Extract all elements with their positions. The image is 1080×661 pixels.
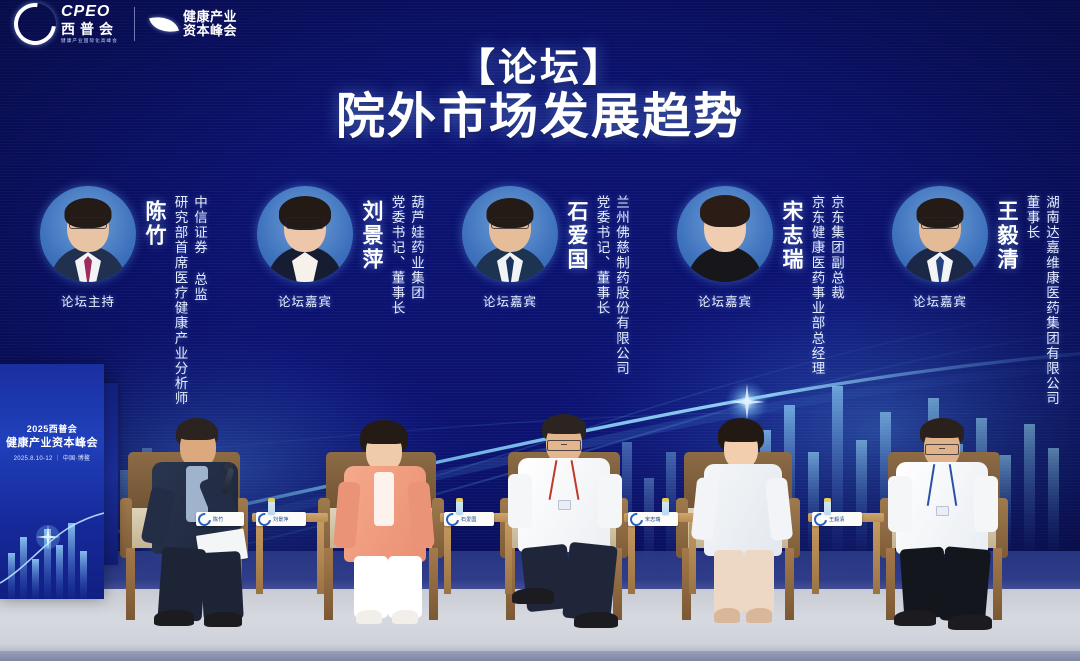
panelist-title-line2: 研究部首席医疗健康产业分析师 — [171, 195, 187, 406]
water-bottle — [456, 498, 463, 515]
panelist-card-liu-jingping: 论坛嘉宾 刘景萍 葫芦娃药业集团 党委书记、董事长 — [253, 186, 424, 316]
water-bottle — [824, 498, 831, 515]
forum-title-block: 【论坛】 院外市场发展趋势 — [0, 48, 1080, 145]
panelist-title-line1: 葫芦娃药业集团 — [407, 195, 423, 316]
water-bottle — [662, 498, 669, 515]
capital-summit-logo: 健康产业 资本峰会 — [151, 10, 237, 37]
cpeo-logo-latin: CPEO — [61, 4, 118, 20]
cpeo-logo-chinese: 西普会 — [61, 22, 118, 36]
side-table — [808, 513, 884, 601]
nameplate-name: 宋志瑞 — [645, 516, 661, 523]
panelist-role: 论坛嘉宾 — [698, 291, 752, 310]
person-panelist-2 — [334, 420, 448, 630]
capital-summit-line2: 资本峰会 — [183, 24, 237, 38]
panelist-title-line1: 京东集团副总裁 — [827, 195, 843, 376]
forum-title-line2: 院外市场发展趋势 — [0, 91, 1080, 145]
nameplate-name: 陈竹 — [213, 516, 223, 523]
panelist-role: 论坛嘉宾 — [913, 291, 967, 310]
avatar — [677, 186, 773, 282]
person-panelist-3 — [508, 414, 640, 632]
panelist-title-line2: 党委书记、董事长 — [593, 195, 609, 376]
nameplate: 刘景萍 — [256, 512, 306, 526]
avatar — [257, 186, 353, 282]
panelist-card-shi-aiguo: 论坛嘉宾 石爱国 兰州佛慈制药股份有限公司 党委书记、董事长 — [458, 186, 629, 376]
logo-divider — [134, 7, 135, 41]
panelist-title-line1: 中信证券 总监 — [190, 195, 206, 406]
panelist-name: 陈竹 — [144, 200, 165, 248]
nameplate-logo-icon — [628, 512, 646, 526]
conference-stage-photo: CPEO 西普会 健康产业国际化高峰会 健康产业 资本峰会 【论坛】 院外市场发… — [0, 0, 1080, 661]
nameplate: 石爱国 — [444, 512, 494, 526]
cpeo-logo-subtitle: 健康产业国际化高峰会 — [61, 39, 118, 44]
nameplate-name: 王毅清 — [829, 516, 845, 523]
panelist-title-line1: 兰州佛慈制药股份有限公司 — [612, 195, 628, 376]
avatar — [40, 186, 136, 282]
nameplate-logo-icon — [196, 512, 214, 526]
avatar — [462, 186, 558, 282]
avatar — [892, 186, 988, 282]
panelist-card-song-zhirui: 论坛嘉宾 宋志瑞 京东集团副总裁 京东健康医药事业部总经理 — [673, 186, 844, 376]
panelist-card-wang-yiqing: 论坛嘉宾 王毅清 湖南达嘉维康医药集团有限公司 董事长 — [888, 186, 1059, 406]
panelist-title-line2: 董事长 — [1023, 195, 1039, 406]
panelist-card-list: 论坛主持 陈竹 中信证券 总监 研究部首席医疗健康产业分析师 — [0, 186, 1080, 426]
panelist-name: 石爱国 — [566, 200, 587, 272]
panelist-name: 宋志瑞 — [781, 200, 802, 272]
water-bottle — [268, 498, 275, 515]
stage-floor-edge — [0, 651, 1080, 661]
panelist-role: 论坛嘉宾 — [278, 291, 332, 310]
nameplate: 陈竹 — [196, 512, 244, 526]
panelist-title-line2: 京东健康医药事业部总经理 — [808, 195, 824, 376]
rollup-date: 2025.8.10-12 ｜ 中国·博鳌 — [0, 453, 104, 462]
panelist-title-group: 湖南达嘉维康医药集团有限公司 董事长 — [1020, 195, 1059, 406]
forum-title-line1: 【论坛】 — [0, 48, 1080, 90]
panelist-role: 论坛主持 — [61, 291, 115, 310]
event-logo-bar: CPEO 西普会 健康产业国际化高峰会 健康产业 资本峰会 — [14, 3, 237, 45]
panelist-role: 论坛嘉宾 — [483, 291, 537, 310]
panelist-title-line1: 湖南达嘉维康医药集团有限公司 — [1042, 195, 1058, 406]
panelist-title-group: 葫芦娃药业集团 党委书记、董事长 — [385, 195, 424, 316]
cpeo-logo: CPEO 西普会 健康产业国际化高峰会 — [14, 3, 118, 45]
capital-summit-line1: 健康产业 — [183, 10, 237, 24]
rollup-line2: 健康产业资本峰会 — [0, 434, 104, 450]
leaf-icon — [151, 15, 177, 34]
nameplate: 王毅清 — [812, 512, 862, 526]
person-panelist-5 — [888, 418, 1014, 632]
panelist-title-group: 中信证券 总监 研究部首席医疗健康产业分析师 — [168, 195, 207, 406]
panelist-title-line2: 党委书记、董事长 — [388, 195, 404, 316]
panelist-card-chen-zhu: 论坛主持 陈竹 中信证券 总监 研究部首席医疗健康产业分析师 — [36, 186, 207, 406]
panelist-name: 王毅清 — [996, 200, 1017, 272]
rollup-chart-graphic — [0, 479, 104, 599]
side-table — [440, 513, 516, 601]
nameplate: 宋志瑞 — [628, 512, 678, 526]
panelist-title-group: 京东集团副总裁 京东健康医药事业部总经理 — [805, 195, 844, 376]
panelist-title-group: 兰州佛慈制药股份有限公司 党委书记、董事长 — [590, 195, 629, 376]
nameplate-name: 刘景萍 — [273, 516, 289, 523]
panelist-name: 刘景萍 — [361, 200, 382, 272]
nameplate-name: 石爱国 — [461, 516, 477, 523]
person-panelist-4 — [692, 418, 802, 630]
